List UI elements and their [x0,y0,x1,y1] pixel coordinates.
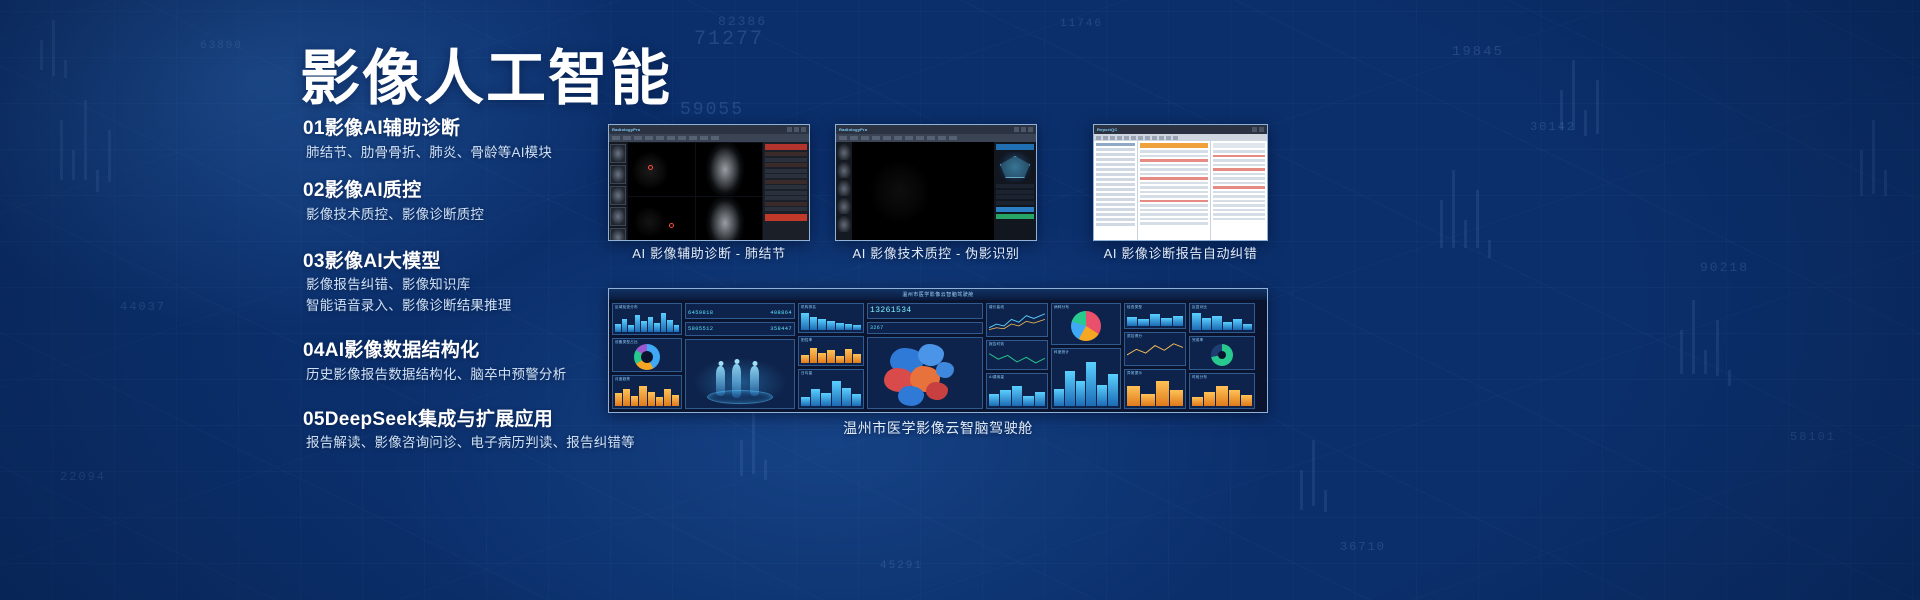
chest-ct-image [854,144,992,241]
qc-metric-row[interactable] [996,201,1034,205]
dashboard-column-5: 增长曲线 报告时效 AI调用量 [986,303,1048,409]
card-title: 检查类型 [1127,305,1142,310]
feature-subtitle-01: 肺结节、肋骨骨折、肺炎、骨龄等AI模块 [303,143,633,164]
finding-row[interactable] [765,152,807,156]
qc-pass-bar [996,214,1034,219]
feature-title-02: 02影像AI质控 [303,177,633,205]
finding-row[interactable] [765,185,807,189]
dashboard-column-8: 区县对比 完成率 时段分布 [1189,303,1255,409]
report-text-line [1140,182,1208,185]
generate-report-button[interactable] [765,214,807,221]
dashboard-total-metric[interactable]: 13261534 [867,303,983,319]
worklist-row[interactable] [1096,208,1135,211]
series-thumbnail[interactable] [610,186,626,205]
qc-analysis-panel[interactable] [994,142,1036,241]
worklist-panel[interactable] [1094,141,1138,241]
region-map [868,338,982,408]
worklist-row[interactable] [1096,218,1135,221]
suggestion-line [1213,182,1265,185]
worklist-row[interactable] [1096,223,1135,226]
card-title: 科室统计 [1054,350,1069,355]
map-region[interactable] [936,362,954,378]
suggestion-line [1213,209,1265,212]
dashboard-column-2: 6459818 408864 5805512 358447 [685,303,795,409]
feature-title-04: 04AI影像数据结构化 [303,337,633,365]
suggestion-line-flagged[interactable] [1213,168,1265,171]
report-text-line [1140,164,1208,167]
dashboard-column-4: 13261534 3267 [867,303,983,409]
bar-chart [989,381,1045,406]
feature-item-02[interactable]: 02影像AI质控 影像技术质控、影像诊断质控 [303,177,633,225]
minimize-icon[interactable] [787,127,792,132]
worklist-row[interactable] [1096,183,1135,186]
card-title: 增长曲线 [989,305,1004,310]
dashboard-column-1: 区域检查分布 设备类型占比 月度趋势 [612,303,682,409]
platform-ring [707,390,773,404]
dashboard-institution-metric[interactable]: 3267 [867,322,983,334]
dashboard-card-bar-9[interactable]: 异常提示 [1124,369,1186,409]
series-thumbnail[interactable] [837,144,851,160]
finding-row[interactable] [765,202,807,206]
series-thumbnail[interactable] [610,228,626,241]
card-title: 病种分布 [1054,305,1069,310]
feature-subtitle-line: 影像报告纠错、影像知识库 [306,275,633,296]
card-title: 区域检查分布 [615,305,638,310]
bar-chart [1127,377,1183,406]
metric-institutions: 3267 [870,325,884,331]
feature-subtitle-line: 报告解读、影像咨询问诊、电子病历判读、报告纠错等 [306,433,633,454]
worklist-row[interactable] [1096,153,1135,156]
donut-chart [1211,344,1233,366]
metric-value-2: 5805512 [688,326,713,332]
viewer-body [836,142,1036,241]
close-icon[interactable] [1028,127,1033,132]
window-brand-label: ReportQC [1097,127,1118,132]
suggestion-line [1213,164,1265,167]
report-body [1094,141,1267,241]
suggestion-panel-header [1213,143,1265,148]
metric-values: 3267 [870,325,980,331]
feature-subtitle-02: 影像技术质控、影像诊断质控 [303,205,633,226]
dashboard-card-bar-3[interactable]: 机构排名 [798,303,864,333]
finding-row[interactable] [765,163,807,167]
report-error-line[interactable] [1140,159,1208,162]
dashboard-card-bar-1[interactable]: 区域检查分布 [612,303,682,335]
suggestion-line [1213,204,1265,207]
findings-panel-header [765,144,807,150]
report-text-line [1140,222,1208,225]
worklist-row[interactable] [1096,163,1135,166]
series-thumbnail[interactable] [837,216,851,232]
series-thumbnail[interactable] [837,198,851,214]
dashboard-card-donut-1[interactable]: 设备类型占比 [612,338,682,372]
finding-row[interactable] [765,158,807,162]
card-title: 异常提示 [1127,371,1142,376]
screenshot-caption-3: AI 影像诊断报告自动纠错 [1093,243,1268,262]
screenshot-caption-1: AI 影像辅助诊断 - 肺结节 [608,243,810,262]
suggestion-line [1213,177,1265,180]
window-menubar[interactable] [609,134,809,142]
worklist-row[interactable] [1096,158,1135,161]
qc-panel-header [996,144,1034,150]
series-thumbnail-list[interactable] [609,142,627,241]
window-brand-label: RadiologyPro [612,127,640,132]
metric-value-4: 358447 [770,326,792,332]
bar-chart [1127,311,1183,326]
nodule-marker[interactable] [648,165,653,170]
line-chart [989,348,1045,367]
suggestion-line [1213,213,1265,216]
bar-chart [615,383,679,406]
dashboard-title: 温州市医学影像云智脑驾驶舱 [609,289,1267,300]
ct-axial-view[interactable] [628,143,695,196]
ct-axial-view-2[interactable] [628,197,695,242]
dashboard-card-bar-6[interactable]: AI调用量 [986,373,1048,409]
card-title: 设备类型占比 [615,340,638,345]
finding-row[interactable] [765,196,807,200]
worklist-row[interactable] [1096,173,1135,176]
card-title: 完成率 [1192,338,1203,343]
ct-main-viewport[interactable] [852,142,994,241]
page-title: 影像人工智能 [300,30,672,117]
radar-chart [996,152,1034,182]
feature-subtitle-04: 历史影像报告数据结构化、脑卒中预警分析 [303,365,633,386]
dashboard-card-bar-8[interactable]: 检查类型 [1124,303,1186,329]
card-title: 日均量 [801,371,812,376]
bar-chart [1054,356,1118,406]
card-title: 月度趋势 [615,377,630,382]
dashboard-column-6: 病种分布 科室统计 [1051,303,1121,409]
metric-value-1: 6459818 [688,310,713,316]
worklist-row[interactable] [1096,188,1135,191]
metric-values: 6459818 408864 [688,310,792,316]
report-text-panel[interactable] [1138,141,1211,241]
finding-row[interactable] [765,174,807,178]
series-thumbnail[interactable] [610,144,626,163]
correction-suggestion-panel[interactable] [1211,141,1267,241]
map-region[interactable] [898,386,924,406]
close-icon[interactable] [801,127,806,132]
suggestion-line [1213,173,1265,176]
screenshot-ai-artifact-qc[interactable]: RadiologyPro [835,124,1037,241]
dashboard-card-line-2[interactable]: 报告时效 [986,340,1048,370]
screenshot-report-autocorrect[interactable]: ReportQC [1093,124,1268,241]
suggestion-line [1213,159,1265,162]
human-body-hologram [686,340,794,408]
report-text-line [1140,195,1208,198]
report-text-line [1140,204,1208,207]
metric-values: 5805512 358447 [688,326,792,332]
suggestion-line [1213,200,1265,203]
worklist-header [1096,143,1135,146]
suggestion-line [1213,195,1265,198]
line-chart [989,311,1045,332]
card-title: 区县对比 [1192,305,1207,310]
bar-chart [1192,381,1252,406]
feature-subtitle-line: 历史影像报告数据结构化、脑卒中预警分析 [306,365,633,386]
window-brand-label: RadiologyPro [839,127,867,132]
suggestion-line [1213,191,1265,194]
dashboard-column-7: 检查类型 质控得分 异常提示 [1124,303,1186,409]
qc-score-bar [996,207,1034,212]
card-title: 报告时效 [989,342,1004,347]
screenshot-caption-4: 温州市医学影像云智脑驾驶舱 [608,418,1268,438]
qc-metric-row[interactable] [996,195,1034,199]
screenshot-ai-lung-nodule[interactable]: RadiologyPro [608,124,810,241]
series-thumbnail[interactable] [610,165,626,184]
card-title: AI调用量 [989,375,1004,380]
dashboard-metric-strip-2[interactable]: 5805512 358447 [685,322,795,336]
dashboard-card-body-visualization[interactable] [685,339,795,409]
dashboard-card-bar-5[interactable]: 日均量 [798,369,864,409]
feature-subtitle-05: 报告解读、影像咨询问诊、电子病历判读、报告纠错等 [303,433,633,454]
suggestion-line [1213,218,1265,221]
dashboard-card-bar-2[interactable]: 月度趋势 [612,375,682,409]
qc-metric-row[interactable] [996,190,1034,194]
bar-chart [801,377,861,406]
report-error-line[interactable] [1140,200,1208,203]
worklist-row[interactable] [1096,168,1135,171]
report-text-line [1140,218,1208,221]
worklist-row[interactable] [1096,193,1135,196]
dashboard-card-bar-4[interactable]: 阳性率 [798,336,864,366]
finding-row[interactable] [765,191,807,195]
feature-item-01[interactable]: 01影像AI辅助诊断 肺结节、肋骨骨折、肺炎、骨龄等AI模块 [303,115,633,163]
dashboard-card-pie-1[interactable]: 病种分布 [1051,303,1121,345]
ct-coronal-view[interactable] [696,197,763,242]
report-text-line [1140,191,1208,194]
image-viewport-grid[interactable] [627,142,763,241]
series-thumbnail-list[interactable] [836,142,852,241]
viewer-body [609,142,809,241]
finding-row[interactable] [765,180,807,184]
series-thumbnail[interactable] [610,207,626,226]
qc-metric-row[interactable] [996,184,1034,188]
ct-image [628,197,695,242]
ct-sagittal-view[interactable] [696,143,763,196]
ct-image [628,143,695,196]
feature-subtitle-line: 肺结节、肋骨骨折、肺炎、骨龄等AI模块 [306,143,633,164]
series-thumbnail[interactable] [837,180,851,196]
feature-title-01: 01影像AI辅助诊断 [303,115,633,143]
card-title: 质控得分 [1127,334,1142,339]
close-icon[interactable] [1259,127,1264,132]
worklist-row[interactable] [1096,198,1135,201]
ct-image [696,197,763,242]
suggestion-line-flagged[interactable] [1213,155,1265,158]
series-thumbnail[interactable] [837,162,851,178]
bar-chart [801,344,861,363]
dashboard-card-bar-11[interactable]: 时段分布 [1189,373,1255,409]
worklist-row[interactable] [1096,178,1135,181]
feature-subtitle-03: 影像报告纠错、影像知识库 智能语音录入、影像诊断结果推理 [303,275,633,317]
dashboard-card-bar-10[interactable]: 区县对比 [1189,303,1255,333]
bar-chart [1192,311,1252,330]
screenshot-imaging-cloud-dashboard[interactable]: 温州市医学影像云智脑驾驶舱 区域检查分布 设备类型占比 月度趋势 [608,288,1268,413]
report-text-line [1140,186,1208,189]
feature-item-03[interactable]: 03影像AI大模型 影像报告纠错、影像知识库 智能语音录入、影像诊断结果推理 [303,248,633,317]
finding-row[interactable] [765,169,807,173]
finding-row[interactable] [765,207,807,211]
worklist-row[interactable] [1096,148,1135,151]
feature-title-03: 03影像AI大模型 [303,248,633,276]
donut-chart [634,344,660,370]
dashboard-card-bar-7[interactable]: 科室统计 [1051,348,1121,409]
feature-title-05: 05DeepSeek集成与扩展应用 [303,406,633,434]
report-text-line [1140,209,1208,212]
dashboard-metric-strip-1[interactable]: 6459818 408864 [685,303,795,319]
report-text-line [1140,173,1208,176]
metric-values: 13261534 [870,306,980,315]
dashboard-body: 区域检查分布 设备类型占比 月度趋势 [609,300,1267,412]
report-text-line [1140,155,1208,158]
dashboard-card-line-1[interactable]: 增长曲线 [986,303,1048,337]
window-titlebar: RadiologyPro [836,125,1036,134]
window-titlebar: RadiologyPro [609,125,809,134]
worklist-row[interactable] [1096,203,1135,206]
card-title: 时段分布 [1192,375,1207,380]
maximize-icon[interactable] [794,127,799,132]
bar-chart [801,311,861,330]
feature-list: 01影像AI辅助诊断 肺结节、肋骨骨折、肺炎、骨龄等AI模块 02影像AI质控 … [303,115,633,465]
dashboard-card-line-3[interactable]: 质控得分 [1124,332,1186,366]
dashboard-column-3: 机构排名 阳性率 日均量 [798,303,864,409]
report-panel-header [1140,143,1208,148]
line-chart [1127,340,1183,361]
suggestion-line-flagged[interactable] [1213,186,1265,189]
map-region[interactable] [926,382,948,400]
report-error-line[interactable] [1140,177,1208,180]
findings-panel[interactable] [763,142,809,241]
metric-value-3: 408864 [770,310,792,316]
feature-subtitle-line: 智能语音录入、影像诊断结果推理 [306,296,633,317]
minimize-icon[interactable] [1014,127,1019,132]
report-text-line [1140,150,1208,153]
feature-item-05[interactable]: 05DeepSeek集成与扩展应用 报告解读、影像咨询问诊、电子病历判读、报告纠… [303,406,633,454]
metric-total-images: 13261534 [870,306,912,315]
minimize-icon[interactable] [1252,127,1257,132]
screenshot-caption-2: AI 影像技术质控 - 伪影识别 [835,243,1037,262]
dashboard-root: 温州市医学影像云智脑驾驶舱 区域检查分布 设备类型占比 月度趋势 [609,289,1267,412]
suggestion-line [1213,150,1265,153]
worklist-row[interactable] [1096,213,1135,216]
report-text-line [1140,168,1208,171]
feature-subtitle-line: 影像技术质控、影像诊断质控 [306,205,633,226]
ct-image [696,143,763,196]
bar-chart [615,311,679,332]
nodule-marker[interactable] [669,223,674,228]
window-titlebar: ReportQC [1094,125,1267,134]
feature-item-04[interactable]: 04AI影像数据结构化 历史影像报告数据结构化、脑卒中预警分析 [303,337,633,385]
dashboard-card-donut-2[interactable]: 完成率 [1189,336,1255,370]
window-menubar[interactable] [836,134,1036,142]
card-title: 机构排名 [801,305,816,310]
pie-chart [1071,311,1101,341]
card-title: 阳性率 [801,338,812,343]
maximize-icon[interactable] [1021,127,1026,132]
report-toolbar[interactable] [1094,134,1267,141]
dashboard-card-map[interactable] [867,337,983,409]
report-text-line [1140,213,1208,216]
